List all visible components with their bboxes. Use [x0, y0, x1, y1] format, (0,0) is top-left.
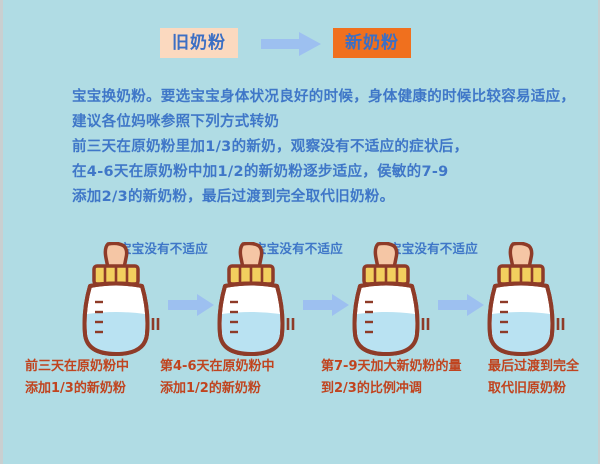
infographic-canvas: 旧奶粉 新奶粉 宝宝换奶粉。要选宝宝身体状况良好的时候，身体健康的时候比较容易适… — [0, 0, 600, 464]
old-formula-badge: 旧奶粉 — [160, 28, 238, 58]
caption-4-line-2: 取代旧原奶粉 — [488, 378, 600, 400]
caption-2-line-2: 添加1/2的新奶粉 — [160, 378, 310, 400]
caption-step-1: 前三天在原奶粉中 添加1/3的新奶粉 — [25, 356, 175, 400]
new-formula-badge: 新奶粉 — [333, 28, 411, 58]
baby-bottle-icon — [466, 242, 576, 360]
right-arrow-icon — [261, 32, 321, 56]
intro-line-3: 前三天在原奶粉里加1/3的新奶，观察没有不适应的症状后， — [72, 135, 592, 160]
intro-line-4: 在4-6天在原奶粉中加1/2的新奶粉逐步适应，侯敏的7-9 — [72, 160, 592, 185]
steps-row: 宝宝没有不适应 宝宝没有不适应 — [3, 232, 600, 362]
baby-bottle-icon — [61, 242, 171, 360]
old-formula-label: 旧奶粉 — [172, 35, 226, 52]
caption-step-3: 第7-9天加大新奶粉的量 到2/3的比例冲调 — [321, 356, 471, 400]
caption-3-line-2: 到2/3的比例冲调 — [321, 378, 471, 400]
intro-line-5: 添加2/3的新奶粉，最后过渡到完全取代旧奶粉。 — [72, 185, 592, 210]
caption-step-2: 第4-6天在原奶粉中 添加1/2的新奶粉 — [160, 356, 310, 400]
caption-4-line-1: 最后过渡到完全 — [488, 356, 600, 378]
caption-2-line-1: 第4-6天在原奶粉中 — [160, 356, 310, 378]
caption-step-4: 最后过渡到完全 取代旧原奶粉 — [488, 356, 600, 400]
intro-line-1: 宝宝换奶粉。要选宝宝身体状况良好的时候，身体健康的时候比较容易适应， — [72, 85, 592, 110]
caption-3-line-1: 第7-9天加大新奶粉的量 — [321, 356, 471, 378]
intro-paragraph: 宝宝换奶粉。要选宝宝身体状况良好的时候，身体健康的时候比较容易适应， 建议各位妈… — [72, 85, 592, 210]
baby-bottle-icon — [331, 242, 441, 360]
intro-line-2: 建议各位妈咪参照下列方式转奶 — [72, 110, 592, 135]
caption-1-line-1: 前三天在原奶粉中 — [25, 356, 175, 378]
step-4 — [458, 232, 598, 362]
caption-1-line-2: 添加1/3的新奶粉 — [25, 378, 175, 400]
header-transition-arrow — [261, 32, 321, 56]
baby-bottle-icon — [196, 242, 306, 360]
new-formula-label: 新奶粉 — [345, 35, 399, 52]
